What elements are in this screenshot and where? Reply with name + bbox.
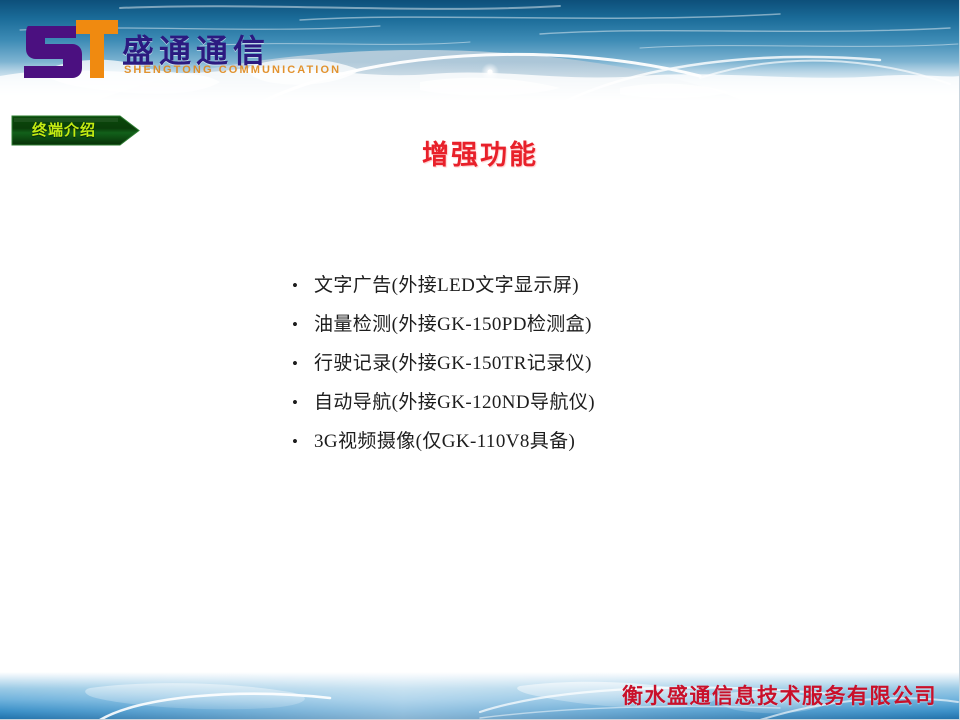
footer-company-name: 衡水盛通信息技术服务有限公司 (622, 680, 937, 710)
slide-title: 增强功能 (0, 133, 960, 172)
list-item: • 自动导航(外接GK-120ND导航仪) (292, 392, 712, 431)
header-banner: 盛通通信 SHENGTONG COMMUNICATION (0, 0, 960, 100)
tab-badge-label: 终端介绍 (8, 114, 120, 147)
list-item-label: 文字广告(外接LED文字显示屏) (314, 275, 712, 297)
st-monogram-icon (14, 12, 118, 84)
list-item-label: 自动导航(外接GK-120ND导航仪) (314, 392, 712, 414)
bullet-dot-icon: • (292, 275, 314, 297)
list-item: • 3G视频摄像(仅GK-110V8具备) (292, 431, 712, 470)
bullet-dot-icon: • (292, 314, 314, 336)
list-item-label: 行驶记录(外接GK-150TR记录仪) (314, 353, 712, 375)
list-item-label: 3G视频摄像(仅GK-110V8具备) (314, 431, 712, 453)
bullet-dot-icon: • (292, 353, 314, 375)
bullet-dot-icon: • (292, 392, 314, 414)
list-item-label: 油量检测(外接GK-150PD检测盒) (314, 314, 712, 336)
list-item: • 行驶记录(外接GK-150TR记录仪) (292, 353, 712, 392)
feature-bullet-list: • 文字广告(外接LED文字显示屏) • 油量检测(外接GK-150PD检测盒)… (292, 275, 712, 470)
list-item: • 油量检测(外接GK-150PD检测盒) (292, 314, 712, 353)
list-item: • 文字广告(外接LED文字显示屏) (292, 275, 712, 314)
company-logo: 盛通通信 SHENGTONG COMMUNICATION (14, 12, 314, 90)
presentation-slide: 盛通通信 SHENGTONG COMMUNICATION 终端介绍 增强功能 •… (0, 0, 960, 720)
bullet-dot-icon: • (292, 431, 314, 453)
logo-company-name-en: SHENGTONG COMMUNICATION (124, 64, 341, 76)
